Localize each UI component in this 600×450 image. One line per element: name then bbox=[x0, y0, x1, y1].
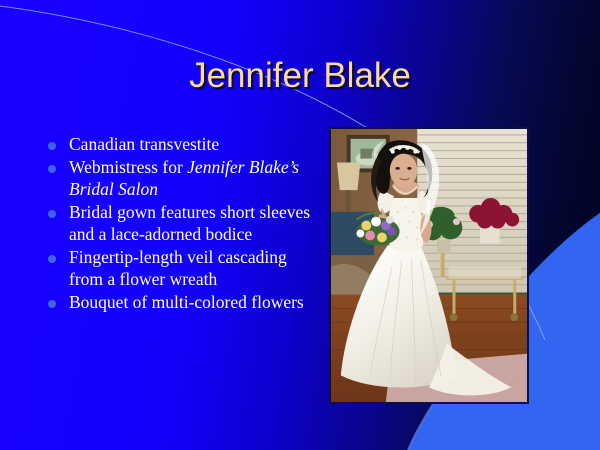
list-item: Canadian transvestite bbox=[48, 133, 316, 155]
bride-photo-frame bbox=[329, 127, 529, 404]
bullet-text-segment: Bridal gown features short sleeves and a… bbox=[69, 202, 310, 244]
list-item: Bridal gown features short sleeves and a… bbox=[48, 201, 316, 245]
bullet-text-veil: Fingertip-length veil cascading from a f… bbox=[69, 246, 316, 290]
list-item: Fingertip-length veil cascading from a f… bbox=[48, 246, 316, 290]
list-item: Webmistress for Jennifer Blake’s Bridal … bbox=[48, 156, 316, 200]
bullet-text-bouquet: Bouquet of multi-colored flowers bbox=[69, 291, 316, 313]
bullet-text-segment: Webmistress for bbox=[69, 157, 187, 177]
presentation-slide: Jennifer Blake Canadian transvestite Web… bbox=[0, 0, 600, 450]
bullet-text-segment: Fingertip-length veil cascading from a f… bbox=[69, 247, 287, 289]
bullet-text-bridal-gown: Bridal gown features short sleeves and a… bbox=[69, 201, 316, 245]
slide-title: Jennifer Blake bbox=[0, 56, 600, 96]
bride-photo bbox=[331, 129, 527, 402]
bullet-text-segment: Bouquet of multi-colored flowers bbox=[69, 292, 304, 312]
bullet-list: Canadian transvestite Webmistress for Je… bbox=[48, 133, 316, 314]
bullet-dot-icon bbox=[48, 255, 56, 263]
bullet-text-segment: Canadian transvestite bbox=[69, 134, 219, 154]
bullet-dot-icon bbox=[48, 300, 56, 308]
bullet-dot-icon bbox=[48, 210, 56, 218]
bullet-text-canadian-transvestite: Canadian transvestite bbox=[69, 133, 316, 155]
bullet-text-webmistress: Webmistress for Jennifer Blake’s Bridal … bbox=[69, 156, 316, 200]
bullet-dot-icon bbox=[48, 142, 56, 150]
list-item: Bouquet of multi-colored flowers bbox=[48, 291, 316, 313]
bullet-dot-icon bbox=[48, 165, 56, 173]
